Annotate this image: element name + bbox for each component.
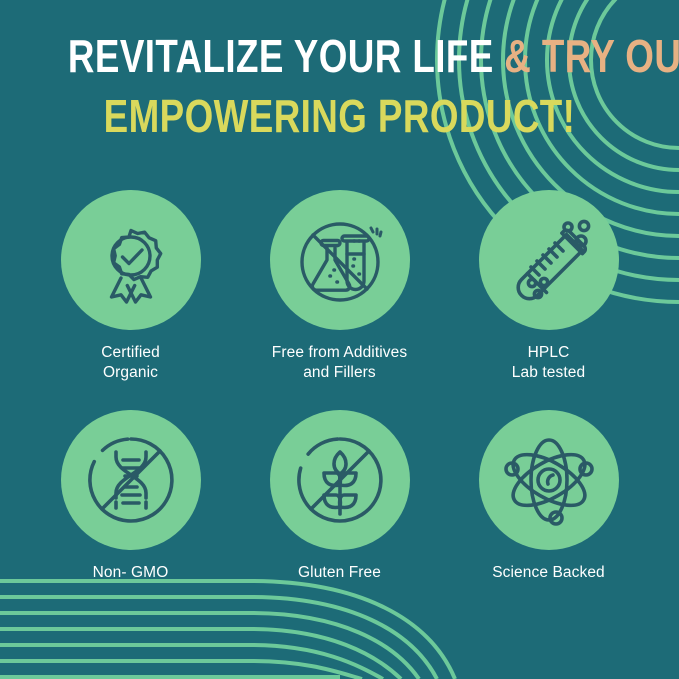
- badge-circle: [479, 190, 619, 330]
- badge-label: Science Backed: [492, 563, 605, 583]
- badge-label: Non- GMO: [93, 563, 169, 583]
- badge-hplc-lab-tested: HPLC Lab tested: [444, 190, 653, 384]
- headline-line2: EMPOWERING PRODUCT!: [68, 94, 611, 138]
- no-dna-icon: [81, 430, 181, 530]
- badge-certified-organic: Certified Organic: [26, 190, 235, 384]
- headline-line1-white: REVITALIZE YOUR LIFE: [68, 30, 504, 82]
- badge-gluten-free: Gluten Free: [235, 410, 444, 583]
- atom-icon: [499, 430, 599, 530]
- promo-graphic: REVITALIZE YOUR LIFE & TRY OUR EMPOWERIN…: [0, 0, 679, 679]
- page-title: REVITALIZE YOUR LIFE & TRY OUR EMPOWERIN…: [0, 34, 679, 138]
- badge-label: Gluten Free: [298, 563, 381, 583]
- feature-badge-grid: Certified Organic: [26, 190, 653, 583]
- badge-science-backed: Science Backed: [444, 410, 653, 583]
- badge-circle: [61, 190, 201, 330]
- no-wheat-icon: [290, 430, 390, 530]
- badge-circle: [61, 410, 201, 550]
- badge-label: Certified Organic: [101, 343, 160, 384]
- headline-line1-orange: & TRY OUR: [504, 30, 679, 82]
- badge-circle: [479, 410, 619, 550]
- badge-label: HPLC Lab tested: [512, 343, 585, 384]
- certified-badge-check-icon: [83, 212, 179, 308]
- badge-circle: [270, 410, 410, 550]
- badge-circle: [270, 190, 410, 330]
- badge-free-from-additives: Free from Additives and Fillers: [235, 190, 444, 384]
- badge-label: Free from Additives and Fillers: [272, 343, 407, 384]
- no-chemicals-flask-icon: [290, 210, 390, 310]
- test-tube-icon: [499, 210, 599, 310]
- badge-non-gmo: Non- GMO: [26, 410, 235, 583]
